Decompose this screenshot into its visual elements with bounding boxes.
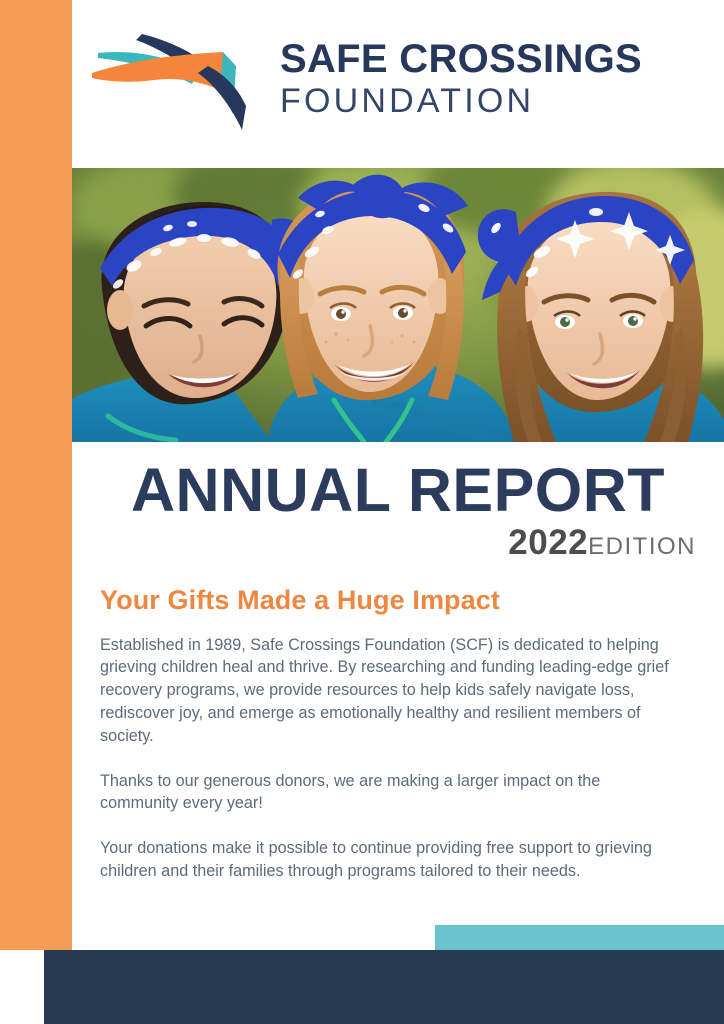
organization-logo: SAFE CROSSINGS FOUNDATION (92, 26, 642, 134)
paragraph-donations: Your donations make it possible to conti… (100, 837, 676, 883)
cover-content: ANNUAL REPORT 2022EDITION Your Gifts Mad… (72, 442, 724, 883)
page-header: SAFE CROSSINGS FOUNDATION (72, 0, 724, 168)
bottom-navy-accent-bar (44, 950, 724, 1024)
edition-label: EDITION (588, 533, 696, 560)
swoosh-bird-logo-icon (92, 26, 262, 134)
page-title: ANNUAL REPORT (72, 442, 724, 521)
intro-body-copy: Established in 1989, Safe Crossings Foun… (72, 616, 724, 883)
report-year: 2022 (508, 523, 588, 562)
logo-name-secondary: FOUNDATION (280, 82, 642, 121)
edition-line: 2022EDITION (72, 521, 724, 560)
paragraph-mission: Established in 1989, Safe Crossings Foun… (100, 634, 676, 748)
hero-photo (72, 168, 724, 442)
impact-subheading: Your Gifts Made a Huge Impact (72, 560, 724, 616)
left-orange-accent-bar (0, 0, 72, 950)
logo-wordmark: SAFE CROSSINGS FOUNDATION (280, 38, 642, 121)
paragraph-donors: Thanks to our generous donors, we are ma… (100, 770, 676, 816)
hero-photo-illustration (72, 168, 724, 442)
logo-name-primary: SAFE CROSSINGS (280, 38, 642, 80)
